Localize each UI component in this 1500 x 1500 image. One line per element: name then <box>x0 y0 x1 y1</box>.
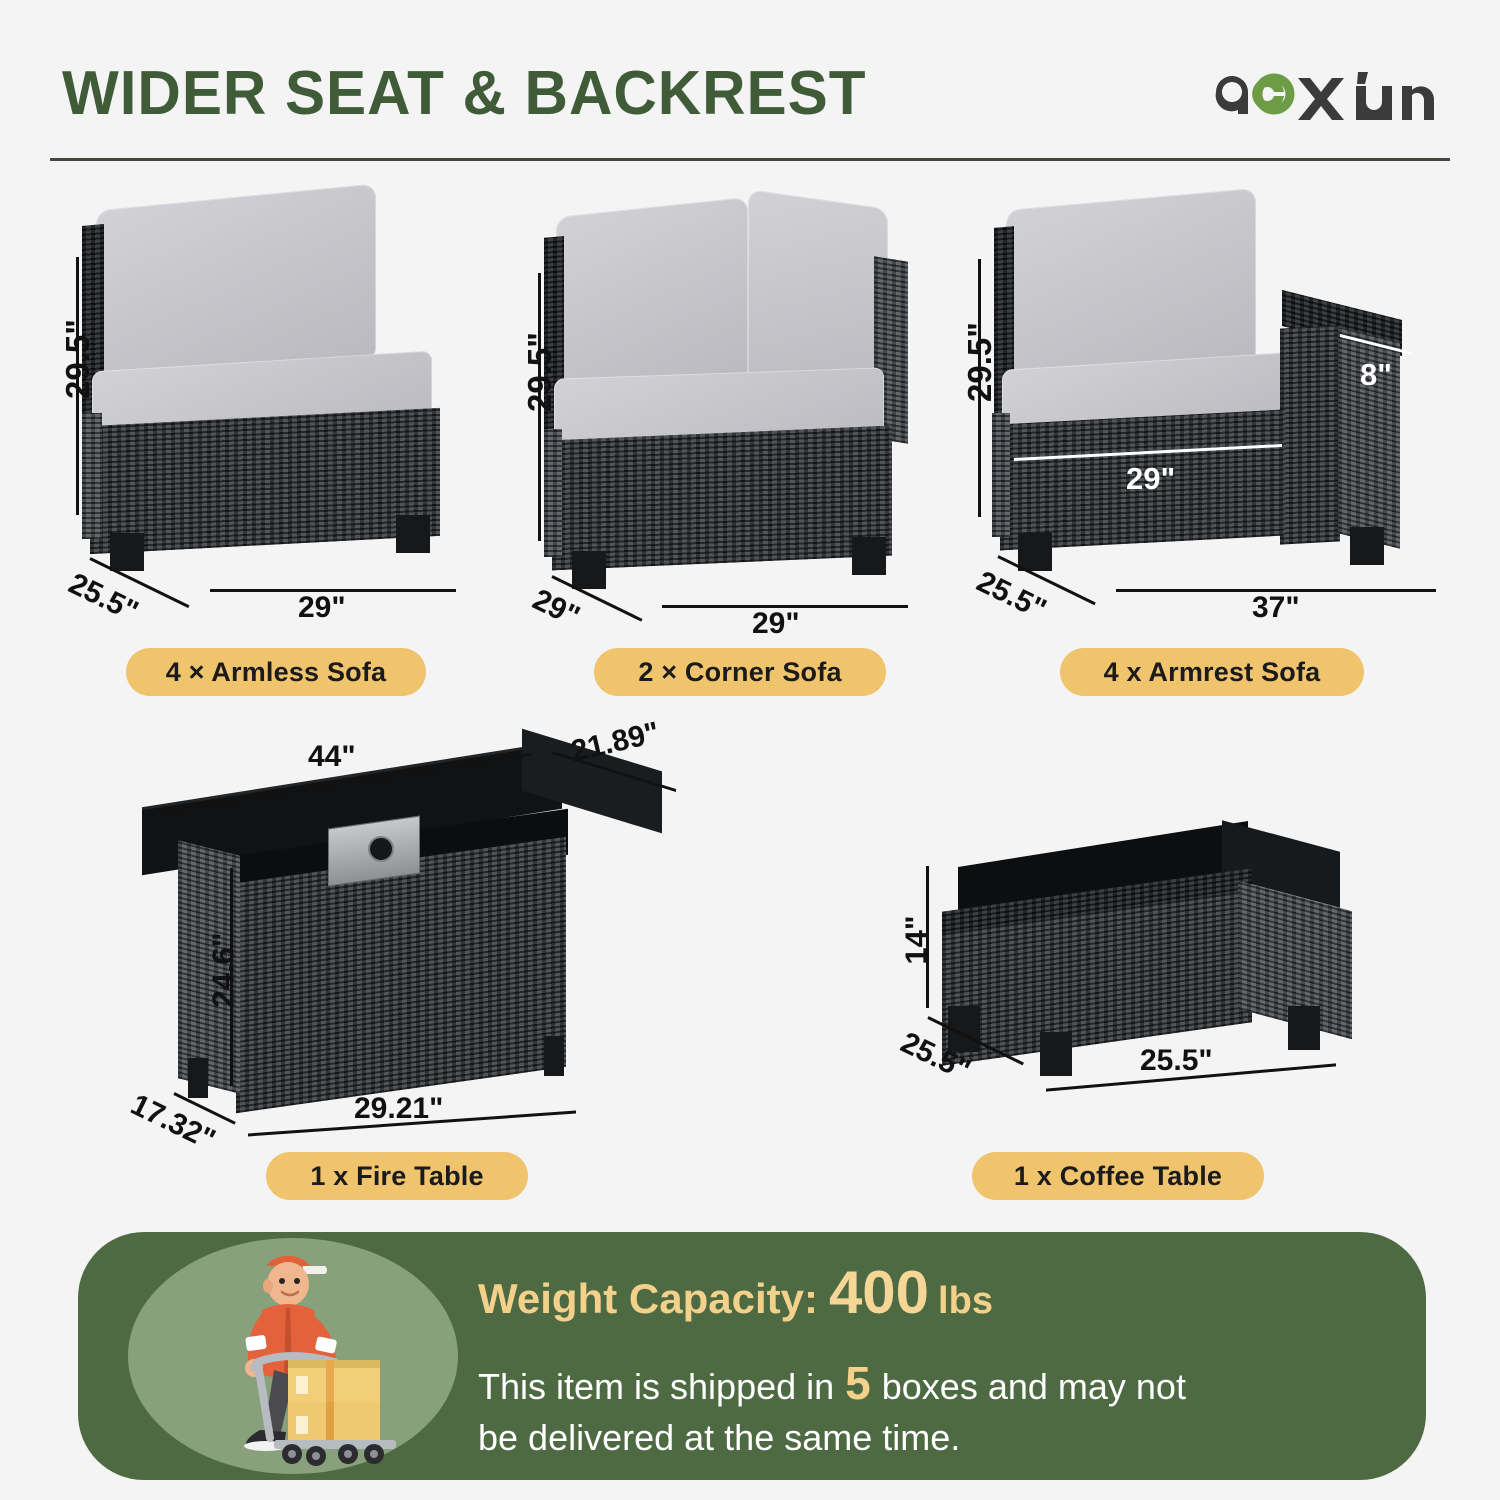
product-corner-sofa: 29.5" 29" 29" <box>530 185 950 605</box>
product-coffee-table: 14" 25.5" 25.5" <box>870 830 1370 1130</box>
fire-table-leg-left <box>188 1058 208 1098</box>
armrest-leg-right <box>1350 527 1384 565</box>
armless-leg-left <box>110 533 144 571</box>
coffee-height-label: 14" <box>899 915 935 964</box>
armrest-seat-width-label: 29" <box>1126 461 1175 497</box>
armrest-arm-face <box>1280 325 1340 544</box>
coffee-width-label: 25.5" <box>1140 1044 1213 1078</box>
weight-capacity-value: 400 <box>829 1258 929 1327</box>
corner-height-label: 29.5" <box>521 332 559 412</box>
fire-top-length-label: 44" <box>308 740 356 774</box>
corner-base-front <box>552 426 892 571</box>
shipping-box-count: 5 <box>834 1357 882 1409</box>
weight-capacity-unit: lbs <box>938 1280 993 1323</box>
corner-leg-right <box>852 537 886 575</box>
armless-height-label: 29.5" <box>59 319 97 399</box>
corner-base-side <box>544 429 562 557</box>
pill-corner-sofa: 2 × Corner Sofa <box>594 648 886 696</box>
coffee-table-leg-mid <box>1040 1032 1072 1076</box>
pill-armrest-label: 4 x Armrest Sofa <box>1104 657 1321 688</box>
shipping-prefix: This item is shipped in <box>478 1366 834 1407</box>
corner-width-label: 29" <box>752 607 800 641</box>
product-armrest-sofa: 29.5" 8" 29" 25.5" 37" <box>960 185 1450 605</box>
shipping-note: This item is shipped in5boxes and may no… <box>478 1353 1408 1462</box>
shipping-line2: be delivered at the same time. <box>478 1417 960 1458</box>
armrest-base-side <box>992 413 1010 537</box>
product-armless-sofa: 29.5" 25.5" 29" <box>60 185 480 605</box>
weight-capacity-label: Weight Capacity: <box>478 1275 818 1323</box>
fire-base-length-label: 29.21" <box>354 1092 443 1126</box>
pill-coffee-table: 1 x Coffee Table <box>972 1152 1264 1200</box>
corner-depth-label: 29" <box>527 583 585 634</box>
fire-base-depth-label: 17.32" <box>125 1088 220 1158</box>
pill-armrest-sofa: 4 x Armrest Sofa <box>1060 648 1364 696</box>
fire-height-label: 24.6" <box>206 932 242 1007</box>
fire-table-leg-right <box>544 1036 564 1076</box>
pill-armless-label: 4 × Armless Sofa <box>166 657 387 688</box>
product-fire-table: 44" 21.89" 24.6" 17.32" 29.21" <box>130 740 710 1140</box>
armless-base-side <box>82 413 102 539</box>
weight-capacity-line: Weight Capacity: 400 lbs <box>478 1258 1408 1327</box>
armrest-arm-width-label: 8" <box>1360 357 1392 393</box>
aoxun-logo <box>1206 62 1438 124</box>
armless-width-label: 29" <box>298 591 346 625</box>
corner-leg-left <box>572 551 606 589</box>
armrest-height-label: 29.5" <box>961 322 999 402</box>
pill-coffee-table-label: 1 x Coffee Table <box>1014 1161 1222 1192</box>
shipping-suffix: boxes and may not <box>882 1366 1186 1407</box>
armrest-leg-left <box>1018 533 1052 571</box>
pill-armless-sofa: 4 × Armless Sofa <box>126 648 426 696</box>
infographic-page: WIDER SEAT & BACKREST <box>0 0 1500 1500</box>
armless-leg-right <box>396 515 430 553</box>
pill-fire-table-label: 1 x Fire Table <box>310 1161 483 1192</box>
header-divider <box>50 158 1450 161</box>
armrest-width-label: 37" <box>1252 591 1300 625</box>
fire-table-body-front <box>236 837 566 1113</box>
fire-table-control-knob <box>368 836 394 862</box>
coffee-table-leg-right <box>1288 1006 1320 1050</box>
page-title: WIDER SEAT & BACKREST <box>62 58 866 129</box>
pill-corner-label: 2 × Corner Sofa <box>638 657 841 688</box>
banner-text-block: Weight Capacity: 400 lbs This item is sh… <box>478 1258 1408 1462</box>
delivery-man-illustration <box>170 1240 440 1476</box>
pill-fire-table: 1 x Fire Table <box>266 1152 528 1200</box>
shipping-banner: Weight Capacity: 400 lbs This item is sh… <box>78 1232 1426 1480</box>
